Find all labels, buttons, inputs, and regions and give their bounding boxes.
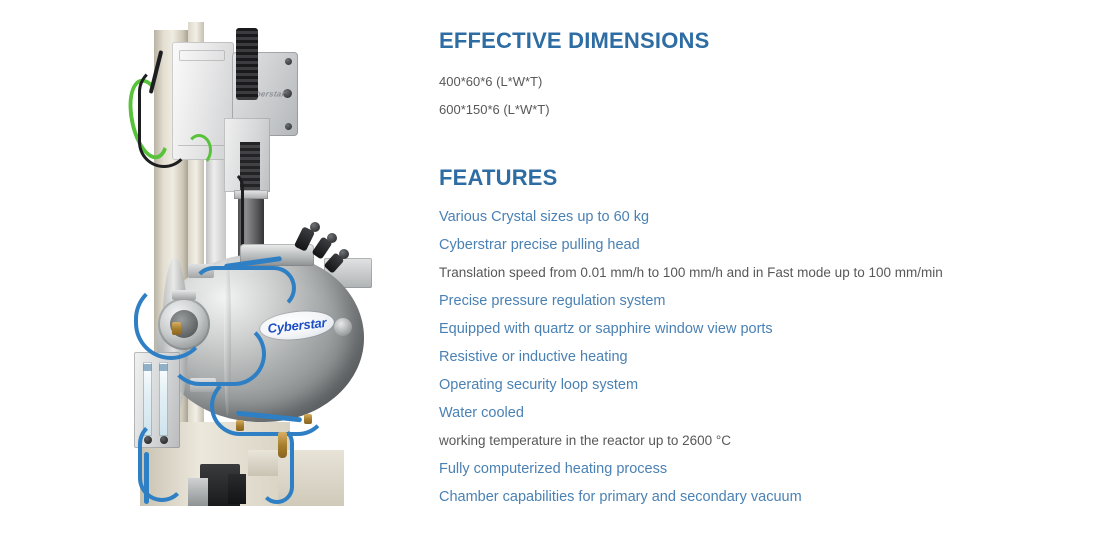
flowmeter-label (159, 364, 168, 371)
feature-item[interactable]: Water cooled (439, 399, 1059, 427)
bolt-icon (285, 58, 292, 65)
brass-fitting (236, 420, 244, 431)
feature-item[interactable]: Operating security loop system (439, 371, 1059, 399)
chamber-brand-logo-text: Cyberstar (267, 315, 327, 336)
secondary-port (334, 318, 352, 336)
feature-item: Translation speed from 0.01 mm/h to 100 … (439, 259, 1059, 287)
bottom-control-box (228, 474, 246, 504)
effective-dimensions-heading: EFFECTIVE DIMENSIONS (439, 30, 709, 52)
feature-item[interactable]: Equipped with quartz or sapphire window … (439, 315, 1059, 343)
feature-item[interactable]: Chamber capabilities for primary and sec… (439, 483, 1059, 511)
product-spec-page: Cyberstar (0, 0, 1100, 536)
pneumatic-hose (144, 452, 149, 504)
black-cable (138, 66, 190, 168)
valve-knob (310, 222, 320, 232)
brass-fitting (172, 322, 181, 335)
bottom-valve-body (188, 478, 208, 506)
bolt-icon (285, 123, 292, 130)
pneumatic-hose (192, 266, 296, 310)
features-list: Various Crystal sizes up to 60 kg Cybers… (439, 203, 1059, 511)
effective-dimensions-list: 400*60*6 (L*W*T) 600*150*6 (L*W*T) (439, 68, 550, 124)
valve-knob (339, 249, 349, 259)
dimension-item: 600*150*6 (L*W*T) (439, 96, 550, 124)
brass-fitting (304, 414, 312, 424)
feature-item[interactable]: Resistive or inductive heating (439, 343, 1059, 371)
dimension-item: 400*60*6 (L*W*T) (439, 68, 550, 96)
feature-item: working temperature in the reactor up to… (439, 427, 1059, 455)
valve-knob (327, 233, 337, 243)
furnace-illustration: Cyberstar (128, 22, 380, 506)
bellows-upper (236, 28, 258, 100)
flowmeter-label (143, 364, 152, 371)
brass-fitting (278, 432, 287, 458)
feature-item[interactable]: Cyberstrar precise pulling head (439, 231, 1059, 259)
feature-item[interactable]: Fully computerized heating process (439, 455, 1059, 483)
features-heading: FEATURES (439, 167, 558, 189)
feature-item[interactable]: Precise pressure regulation system (439, 287, 1059, 315)
pneumatic-hose (260, 426, 294, 504)
product-photo: Cyberstar (128, 22, 380, 506)
feature-item[interactable]: Various Crystal sizes up to 60 kg (439, 203, 1059, 231)
